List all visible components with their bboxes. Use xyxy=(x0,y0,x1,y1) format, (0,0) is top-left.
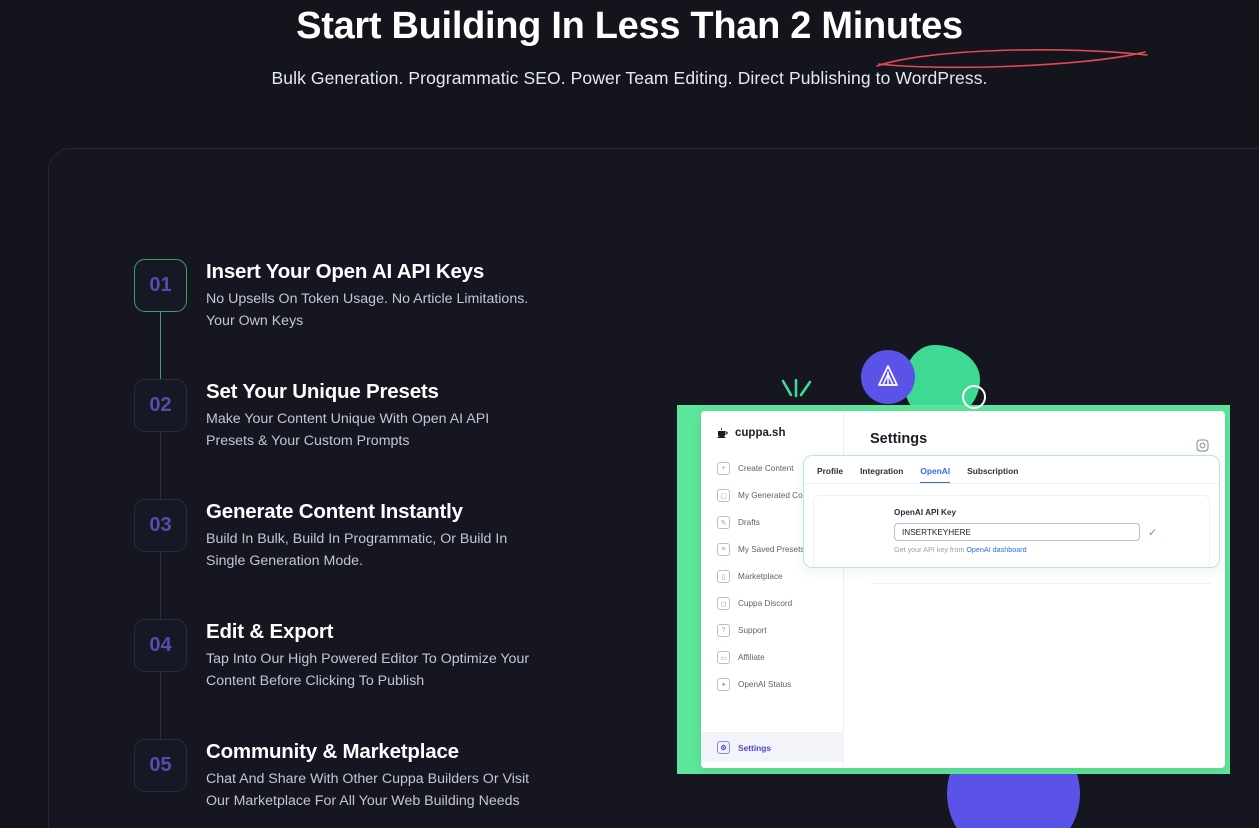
openai-dashboard-link[interactable]: OpenAI dashboard xyxy=(966,545,1026,554)
api-key-card: OpenAI API Key INSERTKEYHERE ✓ Get your … xyxy=(813,495,1210,568)
list-item: 02 Set Your Unique Presets Make Your Con… xyxy=(134,379,604,499)
headline-emphasis: 2 Minutes xyxy=(790,5,963,47)
cup-icon xyxy=(716,427,728,439)
step-description: Make Your Content Unique With Open AI AP… xyxy=(206,408,536,452)
step-connector-03 xyxy=(160,552,161,619)
step-description: Chat And Share With Other Cuppa Builders… xyxy=(206,768,536,812)
page-title: Start Building In Less Than 2 Minutes xyxy=(296,4,963,49)
features-card: 01 Insert Your Open AI API Keys No Upsel… xyxy=(48,148,1259,828)
api-key-label: OpenAI API Key xyxy=(894,508,1209,517)
step-title: Insert Your Open AI API Keys xyxy=(206,259,536,285)
step-badge-02: 02 xyxy=(134,379,187,432)
step-body: Generate Content Instantly Build In Bulk… xyxy=(206,499,536,619)
list-item: 05 Community & Marketplace Chat And Shar… xyxy=(134,739,604,828)
question-circle-icon: ? xyxy=(717,624,730,637)
sliders-icon: ≡ xyxy=(717,543,730,556)
step-title: Community & Marketplace xyxy=(206,739,536,765)
step-badge-01: 01 xyxy=(134,259,187,312)
mock-nav-label: Support xyxy=(738,626,767,635)
list-item: 03 Generate Content Instantly Build In B… xyxy=(134,499,604,619)
api-key-row: INSERTKEYHERE ✓ xyxy=(894,523,1209,541)
headline-text: Start Building In Less Than xyxy=(296,5,790,47)
discord-icon: ◻ xyxy=(717,597,730,610)
mock-nav-label: Affiliate xyxy=(738,653,765,662)
mock-nav-label: My Saved Presets xyxy=(738,545,804,554)
step-description: No Upsells On Token Usage. No Article Li… xyxy=(206,288,536,332)
step-title: Generate Content Instantly xyxy=(206,499,536,525)
mock-nav-item-affiliate[interactable]: ▭ Affiliate xyxy=(701,644,843,671)
page-subtitle: Bulk Generation. Programmatic SEO. Power… xyxy=(0,68,1259,89)
bag-icon: ▯ xyxy=(717,570,730,583)
mock-divider xyxy=(870,583,1211,584)
step-body: Edit & Export Tap Into Our High Powered … xyxy=(206,619,536,739)
white-outline-circle xyxy=(962,385,986,409)
pencil-icon xyxy=(873,362,903,392)
mock-brand-label: cuppa.sh xyxy=(735,427,785,439)
mock-nav-item-openai-status[interactable]: ✦ OpenAI Status xyxy=(701,671,843,698)
step-badge-column: 04 xyxy=(134,619,206,739)
bolt-icon: ✦ xyxy=(717,678,730,691)
step-badge-column: 03 xyxy=(134,499,206,619)
mock-nav-item-cuppa-discord[interactable]: ◻ Cuppa Discord xyxy=(701,590,843,617)
landing-page: Start Building In Less Than 2 Minutes Bu… xyxy=(0,0,1259,828)
dashboard-screenshot: cuppa.sh + Create Content ▢ My Generated… xyxy=(677,405,1230,774)
api-key-help-prefix: Get your API key from xyxy=(894,545,966,554)
mock-main-content: Settings Profile Integration OpenAI Subs… xyxy=(844,411,1225,768)
mock-nav-label: Create Content xyxy=(738,464,794,473)
mock-brand[interactable]: cuppa.sh xyxy=(701,411,843,439)
step-badge-03: 03 xyxy=(134,499,187,552)
tab-openai[interactable]: OpenAI xyxy=(920,466,950,483)
step-badge-04: 04 xyxy=(134,619,187,672)
tab-profile[interactable]: Profile xyxy=(817,466,843,483)
settings-tabs: Profile Integration OpenAI Subscription xyxy=(804,456,1219,484)
step-description: Build In Bulk, Build In Programmatic, Or… xyxy=(206,528,536,572)
step-body: Community & Marketplace Chat And Share W… xyxy=(206,739,536,828)
gear-icon: ⚙ xyxy=(717,741,730,754)
mock-app-window: cuppa.sh + Create Content ▢ My Generated… xyxy=(701,411,1225,768)
mock-settings-label: Settings xyxy=(738,743,771,753)
plus-circle-icon: + xyxy=(717,462,730,475)
mock-nav-label: Cuppa Discord xyxy=(738,599,792,608)
step-badge-05: 05 xyxy=(134,739,187,792)
mock-nav-label: Marketplace xyxy=(738,572,783,581)
step-badge-column: 05 xyxy=(134,739,206,828)
step-badge-column: 02 xyxy=(134,379,206,499)
pencil-square-icon: ✎ xyxy=(717,516,730,529)
tab-subscription[interactable]: Subscription xyxy=(967,466,1018,483)
mock-page-title: Settings xyxy=(870,431,927,447)
step-title: Edit & Export xyxy=(206,619,536,645)
gear-icon xyxy=(1195,438,1210,453)
step-connector-04 xyxy=(160,672,161,739)
tab-integration[interactable]: Integration xyxy=(860,466,903,483)
mock-nav-label: My Generated Con xyxy=(738,491,807,500)
settings-panel: Profile Integration OpenAI Subscription … xyxy=(803,455,1220,568)
list-item: 01 Insert Your Open AI API Keys No Upsel… xyxy=(134,259,604,379)
step-badge-column: 01 xyxy=(134,259,206,379)
step-body: Insert Your Open AI API Keys No Upsells … xyxy=(206,259,536,379)
folder-icon: ▢ xyxy=(717,489,730,502)
pencil-badge xyxy=(861,350,915,404)
settings-gear-button[interactable] xyxy=(1194,437,1211,454)
mock-nav-label: Drafts xyxy=(738,518,760,527)
green-spark-lines-icon xyxy=(780,379,814,405)
mock-nav-item-settings[interactable]: ⚙ Settings xyxy=(701,732,844,762)
step-title: Set Your Unique Presets xyxy=(206,379,536,405)
step-description: Tap Into Our High Powered Editor To Opti… xyxy=(206,648,536,692)
mock-nav-item-support[interactable]: ? Support xyxy=(701,617,843,644)
steps-list: 01 Insert Your Open AI API Keys No Upsel… xyxy=(134,259,604,828)
step-connector-02 xyxy=(160,432,161,499)
inbox-icon: ▭ xyxy=(717,651,730,664)
api-key-help: Get your API key from OpenAI dashboard xyxy=(894,545,1209,554)
step-body: Set Your Unique Presets Make Your Conten… xyxy=(206,379,536,499)
api-key-input[interactable]: INSERTKEYHERE xyxy=(894,523,1140,541)
page-header: Start Building In Less Than 2 Minutes Bu… xyxy=(0,0,1259,89)
mock-nav-label: OpenAI Status xyxy=(738,680,791,689)
check-icon: ✓ xyxy=(1148,526,1157,539)
list-item: 04 Edit & Export Tap Into Our High Power… xyxy=(134,619,604,739)
step-connector-01 xyxy=(160,312,161,379)
